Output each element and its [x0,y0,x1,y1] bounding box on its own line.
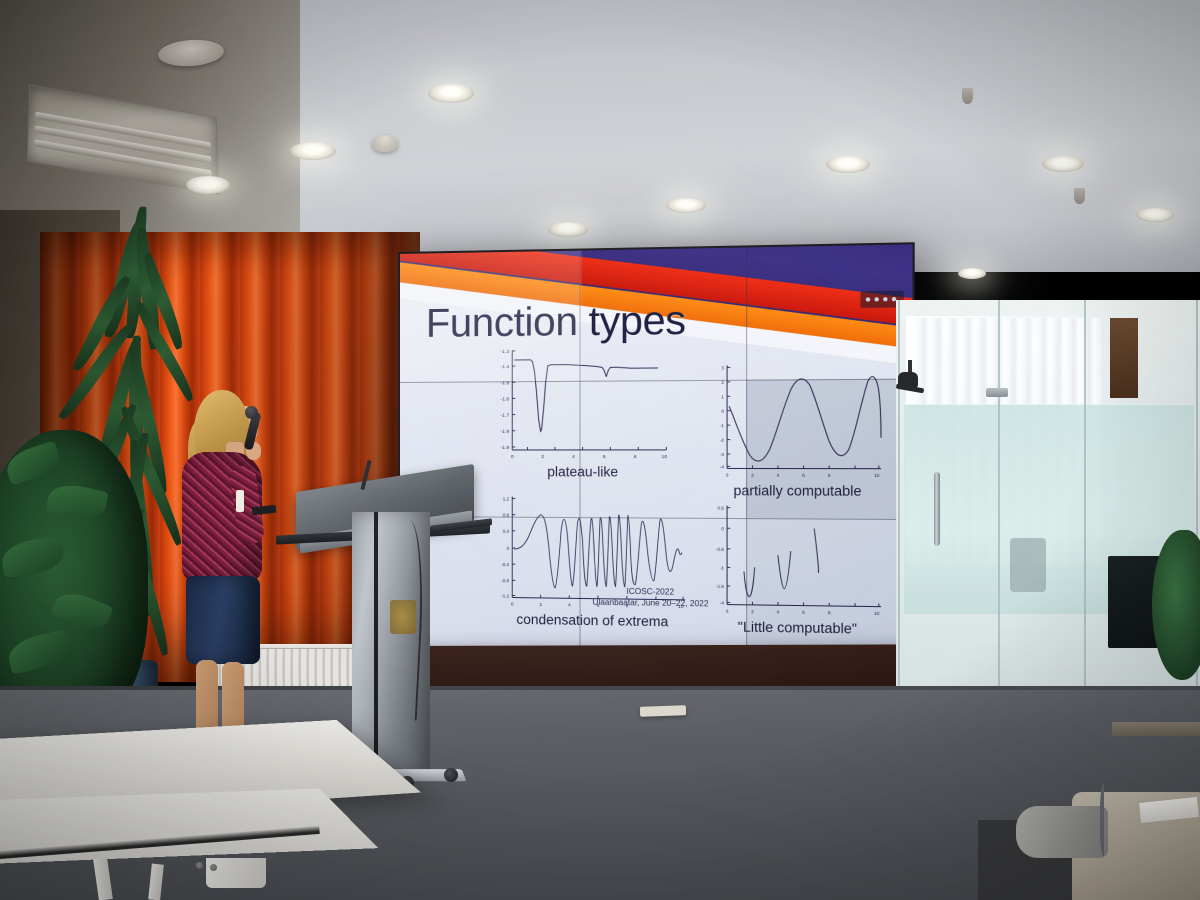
chair-behind-glass [1010,538,1046,592]
svg-text:0: 0 [721,409,724,414]
chart-little-computable-caption: "Little computable" [702,619,894,638]
lectern-column-seam [374,512,378,776]
svg-text:4: 4 [777,473,780,478]
svg-text:4: 4 [572,454,575,460]
svg-text:0: 0 [511,454,514,460]
svg-text:1: 1 [721,394,724,399]
ceiling-spot-fixture [1074,188,1085,204]
ceiling-downlight [826,156,870,173]
lectern-caster [444,768,458,782]
chart-condensation-of-extrema-caption: condensation of extrema [484,611,702,630]
slide-title: Function types [426,298,686,347]
glass-door-handle[interactable] [934,472,940,546]
video-wall-screen: Function types [400,244,913,661]
svg-text:-1: -1 [720,423,725,428]
chart-plateau-like-caption: plateau-like [486,464,681,480]
table-leg [206,858,266,888]
svg-text:-1.9: -1.9 [501,445,510,451]
presenter-badge [236,490,244,512]
svg-text:1.2: 1.2 [503,496,510,501]
svg-text:0.4: 0.4 [503,529,510,534]
svg-text:-4: -4 [720,464,725,469]
ceiling-downlight [1042,156,1084,172]
chart-partially-computable-caption: partially computable [702,483,894,499]
svg-text:3: 3 [721,365,724,370]
svg-text:-1.8: -1.8 [501,429,510,435]
presentation-video-wall[interactable]: Function types [398,242,915,664]
ceiling-downlight [666,198,706,213]
svg-text:6: 6 [802,473,805,478]
glass-door-lock[interactable] [986,388,1008,397]
video-wall-seam-vertical [580,251,581,656]
svg-text:-1.7: -1.7 [501,413,510,419]
glass-mullion [898,300,900,740]
glass-partition-area [896,300,1200,740]
table-fastener [196,862,203,869]
ceiling-downlight [1136,208,1174,222]
side-shelf [1112,722,1200,736]
svg-text:0.6: 0.6 [718,506,725,511]
ceiling-downlight [428,84,474,103]
svg-text:8: 8 [828,473,831,478]
conference-room-photo: Function types [0,0,1200,900]
svg-text:-3: -3 [720,452,725,457]
svg-text:-0.4: -0.4 [501,562,509,567]
presenter-clicker [252,505,277,515]
seated-person-legs [1016,806,1108,858]
ceiling-downlight [958,268,986,279]
svg-text:-0.6: -0.6 [716,547,725,552]
table-fastener [210,864,217,871]
svg-text:-1.4: -1.4 [501,364,510,370]
svg-text:-0.8: -0.8 [501,578,509,583]
svg-text:0: 0 [726,473,729,478]
glass-mullion [1084,300,1086,740]
svg-text:6: 6 [603,454,606,460]
presenter-skirt [186,576,260,664]
video-wall-seam-vertical [746,247,747,658]
chart-plateau-like-svg: -1.3-1.4-1.5 -1.6-1.7-1.8 -1.9 024 6810 [486,343,681,466]
ceiling-downlight [548,222,588,237]
floor-paper-scrap [640,705,686,717]
glass-mullion [1196,300,1198,740]
svg-text:10: 10 [874,473,880,478]
svg-text:-2: -2 [720,438,725,443]
svg-text:10: 10 [661,454,667,460]
svg-text:2: 2 [751,473,754,478]
svg-text:2: 2 [541,454,544,460]
svg-text:0: 0 [507,546,510,551]
svg-text:-1.6: -1.6 [501,396,510,402]
slide-canvas: Function types [400,244,913,661]
ceiling-spot-fixture [962,88,973,104]
ceiling-downlight [290,142,336,160]
chart-plateau-like: -1.3-1.4-1.5 -1.6-1.7-1.8 -1.9 024 6810 … [486,343,681,466]
svg-text:8: 8 [634,454,637,460]
svg-text:0: 0 [721,526,724,531]
chair-armrest [1100,784,1108,856]
smoke-detector-icon [372,135,398,152]
glass-mullion [998,300,1000,740]
svg-text:-1: -1 [720,565,725,570]
svg-text:-1.3: -1.3 [501,349,510,355]
ceiling-downlight [186,176,230,194]
wood-column [1110,318,1138,398]
